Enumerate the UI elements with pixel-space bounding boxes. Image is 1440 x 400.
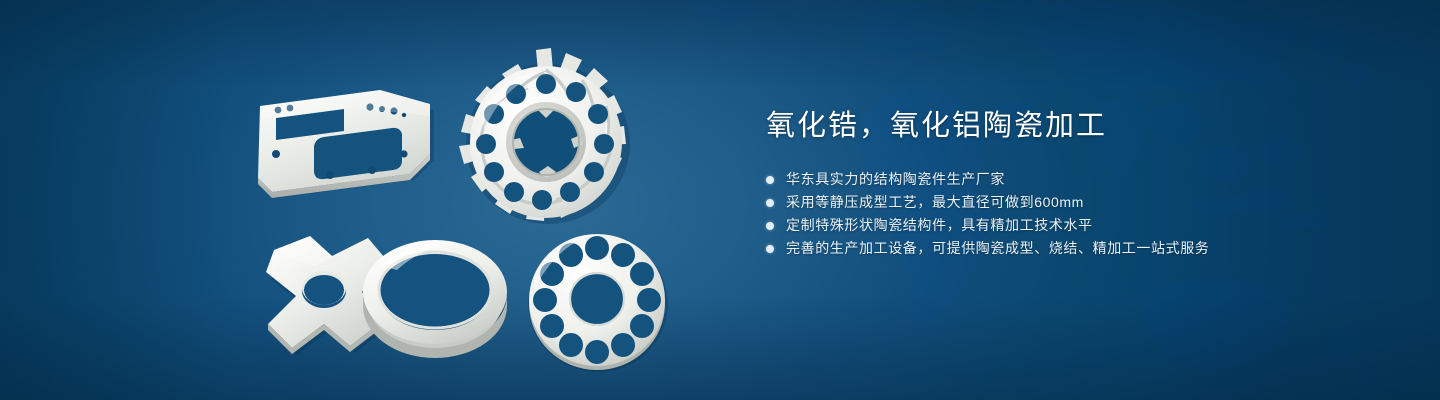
ceramic-machined-plate [252,82,442,202]
feature-text: 采用等静压成型工艺，最大直径可做到600mm [786,191,1084,214]
list-item: 采用等静压成型工艺，最大直径可做到600mm [766,191,1366,214]
bullet-dot-icon [766,176,774,184]
bullet-dot-icon [766,222,774,230]
page-title: 氧化锆，氧化铝陶瓷加工 [766,106,1366,146]
ceramic-ring [355,230,515,365]
feature-text: 定制特殊形状陶瓷结构件，具有精加工技术水平 [786,214,1093,237]
list-item: 完善的生产加工设备，可提供陶瓷成型、烧结、精加工一站式服务 [766,237,1366,260]
ceramic-impeller-disc [452,48,638,228]
feature-list: 华东具实力的结构陶瓷件生产厂家 采用等静压成型工艺，最大直径可做到600mm 定… [766,168,1366,260]
bullet-dot-icon [766,245,774,253]
list-item: 定制特殊形状陶瓷结构件，具有精加工技术水平 [766,214,1366,237]
bullet-dot-icon [766,199,774,207]
ceramic-perforated-disc [518,222,678,382]
feature-text: 华东具实力的结构陶瓷件生产厂家 [786,168,1005,191]
feature-text: 完善的生产加工设备，可提供陶瓷成型、烧结、精加工一站式服务 [786,237,1209,260]
list-item: 华东具实力的结构陶瓷件生产厂家 [766,168,1366,191]
hero-banner: 氧化锆，氧化铝陶瓷加工 华东具实力的结构陶瓷件生产厂家 采用等静压成型工艺，最大… [0,0,1440,400]
banner-copy: 氧化锆，氧化铝陶瓷加工 华东具实力的结构陶瓷件生产厂家 采用等静压成型工艺，最大… [766,106,1366,260]
